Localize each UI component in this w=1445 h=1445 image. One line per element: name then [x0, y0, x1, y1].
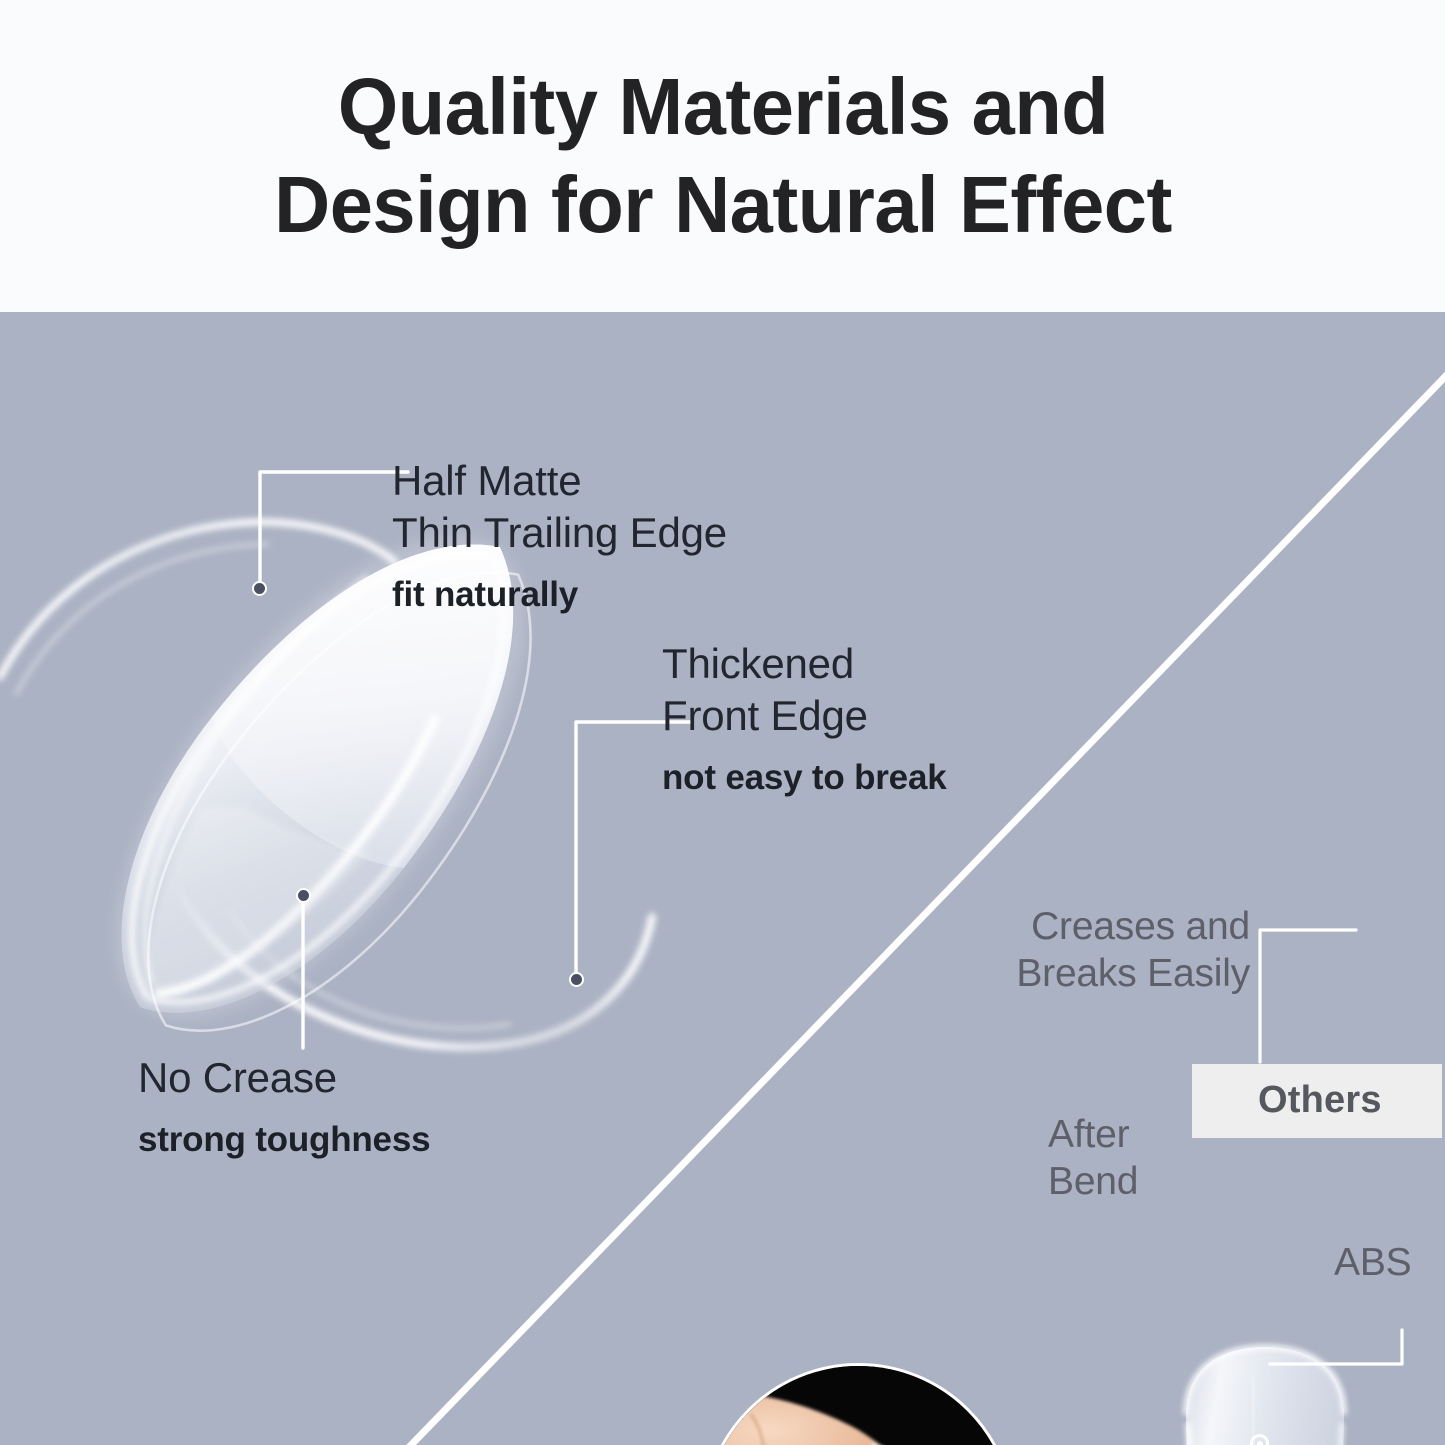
annotation-half-matte: Half Matte Thin Trailing Edge fit natura… — [392, 455, 727, 615]
annotation-abs-title: ABS — [1334, 1240, 1445, 1287]
leader-line-creases-breaks — [1238, 916, 1368, 1076]
annotation-front-edge-title: Thickened Front Edge — [662, 638, 946, 742]
annotation-no-crease-subtitle: strong toughness — [138, 1120, 430, 1160]
annotation-front-edge-subtitle: not easy to break — [662, 758, 946, 798]
annotation-half-matte-subtitle: fit naturally — [392, 575, 727, 615]
page-title-line-1: Quality Materials and — [111, 58, 1333, 156]
bend-demo-photo-svg — [705, 1366, 1012, 1445]
page-title-line-2: Design for Natural Effect — [111, 156, 1333, 254]
annotation-half-matte-title: Half Matte Thin Trailing Edge — [392, 455, 727, 559]
others-nail-illustration — [1150, 1337, 1380, 1445]
annotation-creases-breaks-title: Creases and Breaks Easily — [930, 904, 1250, 998]
header-banner: Quality Materials and Design for Natural… — [0, 0, 1445, 312]
comparison-stage: Half Matte Thin Trailing Edge fit natura… — [0, 312, 1445, 1445]
annotation-after-bend: After Bend — [1048, 1112, 1198, 1206]
bend-demo-photo — [702, 1363, 1015, 1445]
annotation-abs: ABS — [1334, 1240, 1445, 1287]
others-nail-svg — [1150, 1337, 1380, 1445]
marker-dot-half-matte — [252, 581, 267, 596]
annotation-front-edge: Thickened Front Edge not easy to break — [662, 638, 946, 798]
annotation-no-crease: No Crease strong toughness — [138, 1052, 430, 1160]
infographic-page: Quality Materials and Design for Natural… — [0, 0, 1445, 1445]
annotation-after-bend-title: After Bend — [1048, 1112, 1198, 1206]
annotation-creases-breaks: Creases and Breaks Easily — [930, 904, 1250, 998]
marker-dot-no-crease — [296, 888, 311, 903]
marker-dot-front-edge — [569, 972, 584, 987]
page-title: Quality Materials and Design for Natural… — [111, 58, 1333, 253]
annotation-no-crease-title: No Crease — [138, 1052, 430, 1104]
brand-badge-others: Others — [1192, 1064, 1442, 1138]
